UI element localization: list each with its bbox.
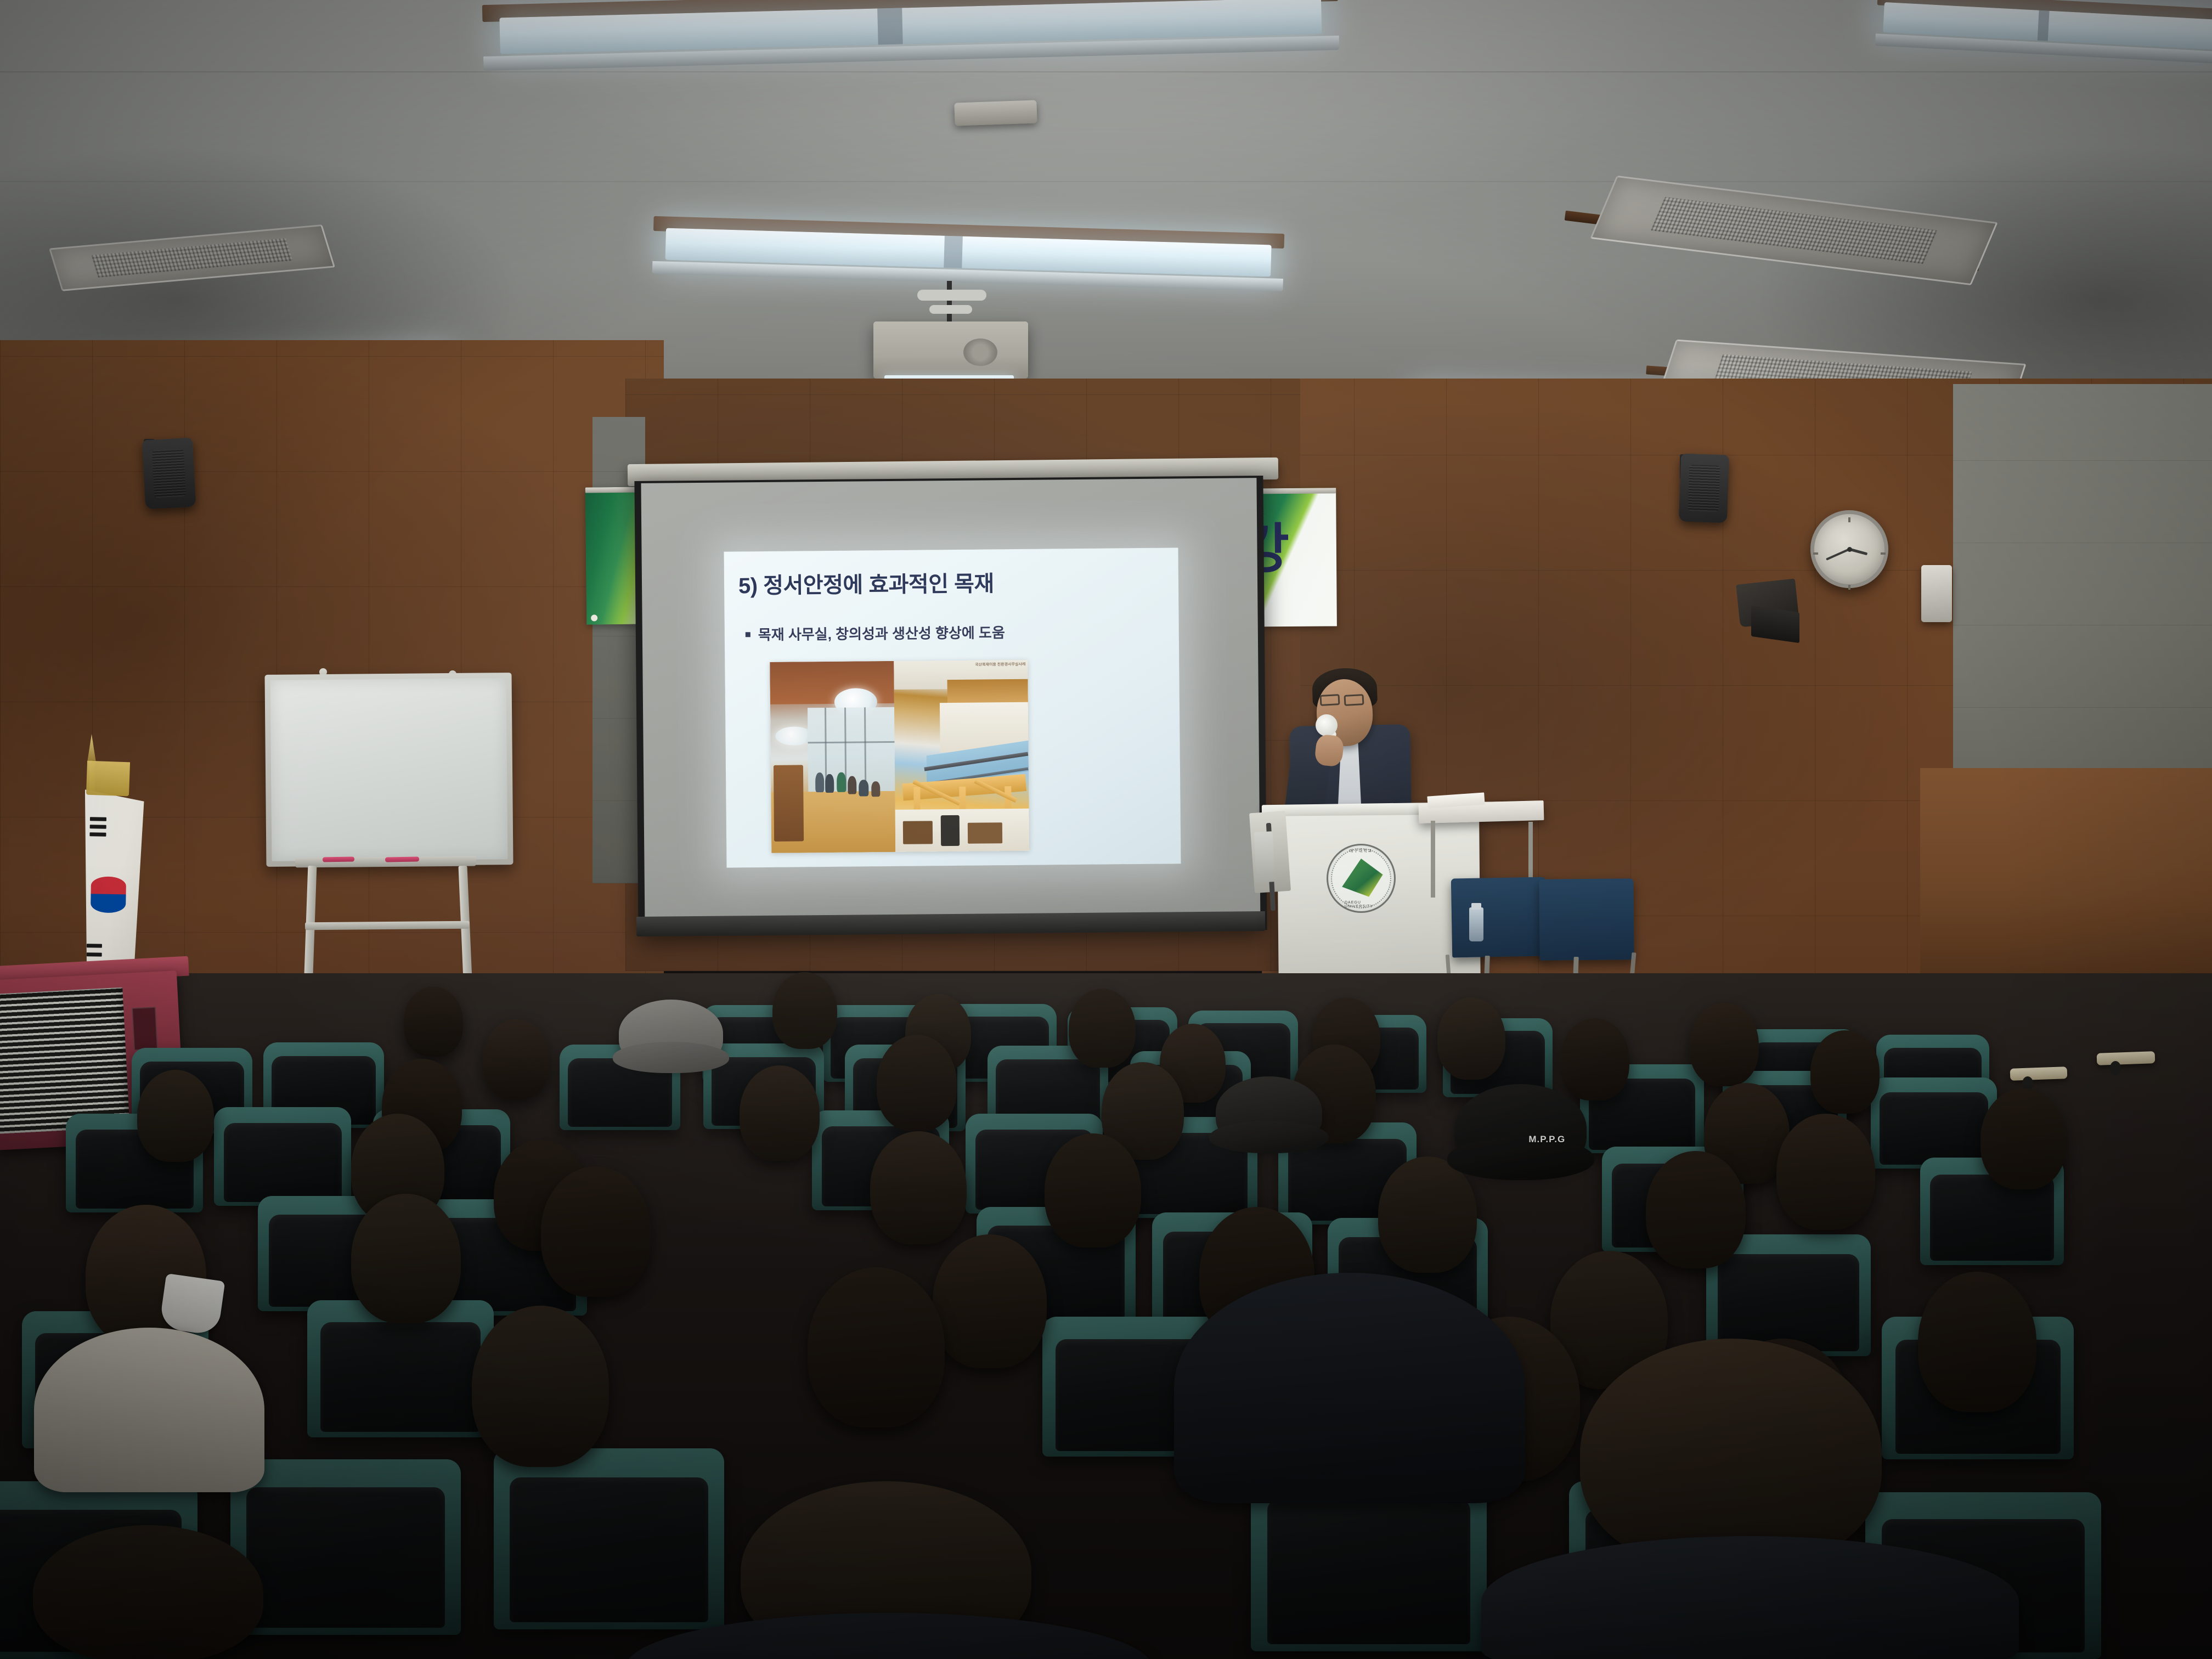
analog-wall-clock [1810, 510, 1888, 588]
audience-shoulders [1174, 1273, 1525, 1503]
south-korea-flag [82, 789, 144, 972]
projector-mount-bracket [917, 290, 986, 301]
audience-shoulders-foreground [1481, 1536, 2019, 1659]
slide-bullet: 목재 사무실, 창의성과 생산성 향상에 도움 [746, 622, 1005, 644]
audience-cap-dark [1216, 1076, 1322, 1148]
audience-head [1918, 1272, 2036, 1412]
daegu-university-emblem: 대구대학교 DAEGU UNIVERSITY [1327, 844, 1396, 913]
audience-head [933, 1234, 1047, 1368]
slide-photo-left-pane [770, 661, 895, 853]
wall-speaker-right [1679, 454, 1729, 523]
presenter-glasses [1320, 694, 1340, 706]
whiteboard-marker[interactable] [385, 856, 419, 862]
audience-head [472, 1306, 609, 1467]
ceiling-projector [873, 321, 1028, 379]
lecture-hall-photo: 경상북도 강 5) 정서안정에 효과적인 목재 목재 사무실, 창의성과 생산성… [0, 0, 2212, 1659]
emblem-top-text: 대구대학교 [1350, 848, 1373, 854]
audience-head [740, 1065, 820, 1161]
audience-head [1690, 1003, 1759, 1086]
slide-photo: 국산목재이용 친환경사무실사례 [770, 660, 1029, 853]
ceiling-seam [0, 71, 2212, 72]
audience-head [1980, 1088, 2066, 1189]
whiteboard[interactable] [264, 673, 513, 867]
audience-head [351, 1194, 461, 1323]
audience-head [1646, 1151, 1746, 1268]
audience-head-foreground [1580, 1339, 1882, 1569]
ceiling-seam [0, 181, 2212, 182]
slide-photo-caption: 국산목재이용 친환경사무실사례 [975, 662, 1025, 668]
audience-head [137, 1070, 214, 1162]
wall-speaker-left [142, 438, 196, 510]
bullet-marker [746, 632, 751, 637]
clock-minute-hand [1826, 548, 1850, 560]
audience-head [1560, 1018, 1629, 1101]
audience-head [870, 1131, 967, 1244]
projector-mount-bracket [929, 305, 972, 314]
heater-control-panel[interactable] [132, 1007, 158, 1051]
podium-side-shelf [1254, 831, 1276, 883]
whiteboard-marker[interactable] [323, 856, 354, 862]
emblem-bottom-text: DAEGU UNIVERSITY [1345, 901, 1378, 909]
auditorium-seat[interactable] [214, 1107, 351, 1206]
water-bottle[interactable] [1469, 907, 1483, 941]
slide-title: 5) 정서안정에 효과적인 목재 [738, 566, 994, 600]
audience-head [1810, 1030, 1880, 1114]
wall-panel-right [1953, 384, 2212, 790]
audience-head [404, 986, 463, 1057]
flag-fringe [86, 761, 130, 797]
audience-head [1069, 989, 1136, 1068]
auditorium-seat[interactable] [1871, 1077, 1997, 1169]
bottle-cap [1471, 903, 1481, 910]
audience-cap-grey [619, 1000, 723, 1068]
heater-grill [0, 988, 130, 1135]
cap-logo-text: M.P.P.G [1528, 1134, 1565, 1145]
auditorium-seat[interactable] [494, 1448, 724, 1629]
seat-armrest [2010, 1066, 2068, 1081]
projected-slide: 5) 정서안정에 효과적인 목재 목재 사무실, 창의성과 생산성 향상에 도움 [724, 548, 1181, 867]
audience-head [772, 972, 837, 1049]
whiteboard-surface[interactable] [270, 678, 508, 861]
audience-head [808, 1267, 945, 1427]
audience-head [877, 1035, 957, 1131]
stage-chair-blue[interactable] [1539, 878, 1634, 960]
seat-arm-post [2110, 1061, 2121, 1075]
wall-dado-right [1920, 768, 2212, 998]
wall-emergency-light [1921, 565, 1952, 622]
slide-photo-right-pane: 국산목재이용 친환경사무실사례 [894, 660, 1029, 852]
audience-head [1437, 997, 1505, 1080]
stage-chair-blue[interactable] [1451, 877, 1547, 958]
audience-head [541, 1166, 651, 1297]
whiteboard-crossbar [305, 921, 470, 930]
microphone-head [1316, 714, 1338, 736]
seat-armrest [2097, 1051, 2155, 1065]
presenter-glasses [1344, 694, 1364, 706]
side-table-leg [1431, 821, 1435, 898]
audience-head [1045, 1133, 1141, 1248]
smoke-detector [954, 100, 1037, 126]
audience-head [483, 1019, 550, 1099]
audience-cap-mppg: M.P.P.G [1455, 1084, 1587, 1173]
auditorium-seat[interactable] [230, 1459, 461, 1635]
audience-head [1776, 1114, 1875, 1230]
audience-shoulders [34, 1328, 264, 1492]
audience-head-foreground [33, 1525, 263, 1659]
audience-head [1378, 1156, 1477, 1273]
